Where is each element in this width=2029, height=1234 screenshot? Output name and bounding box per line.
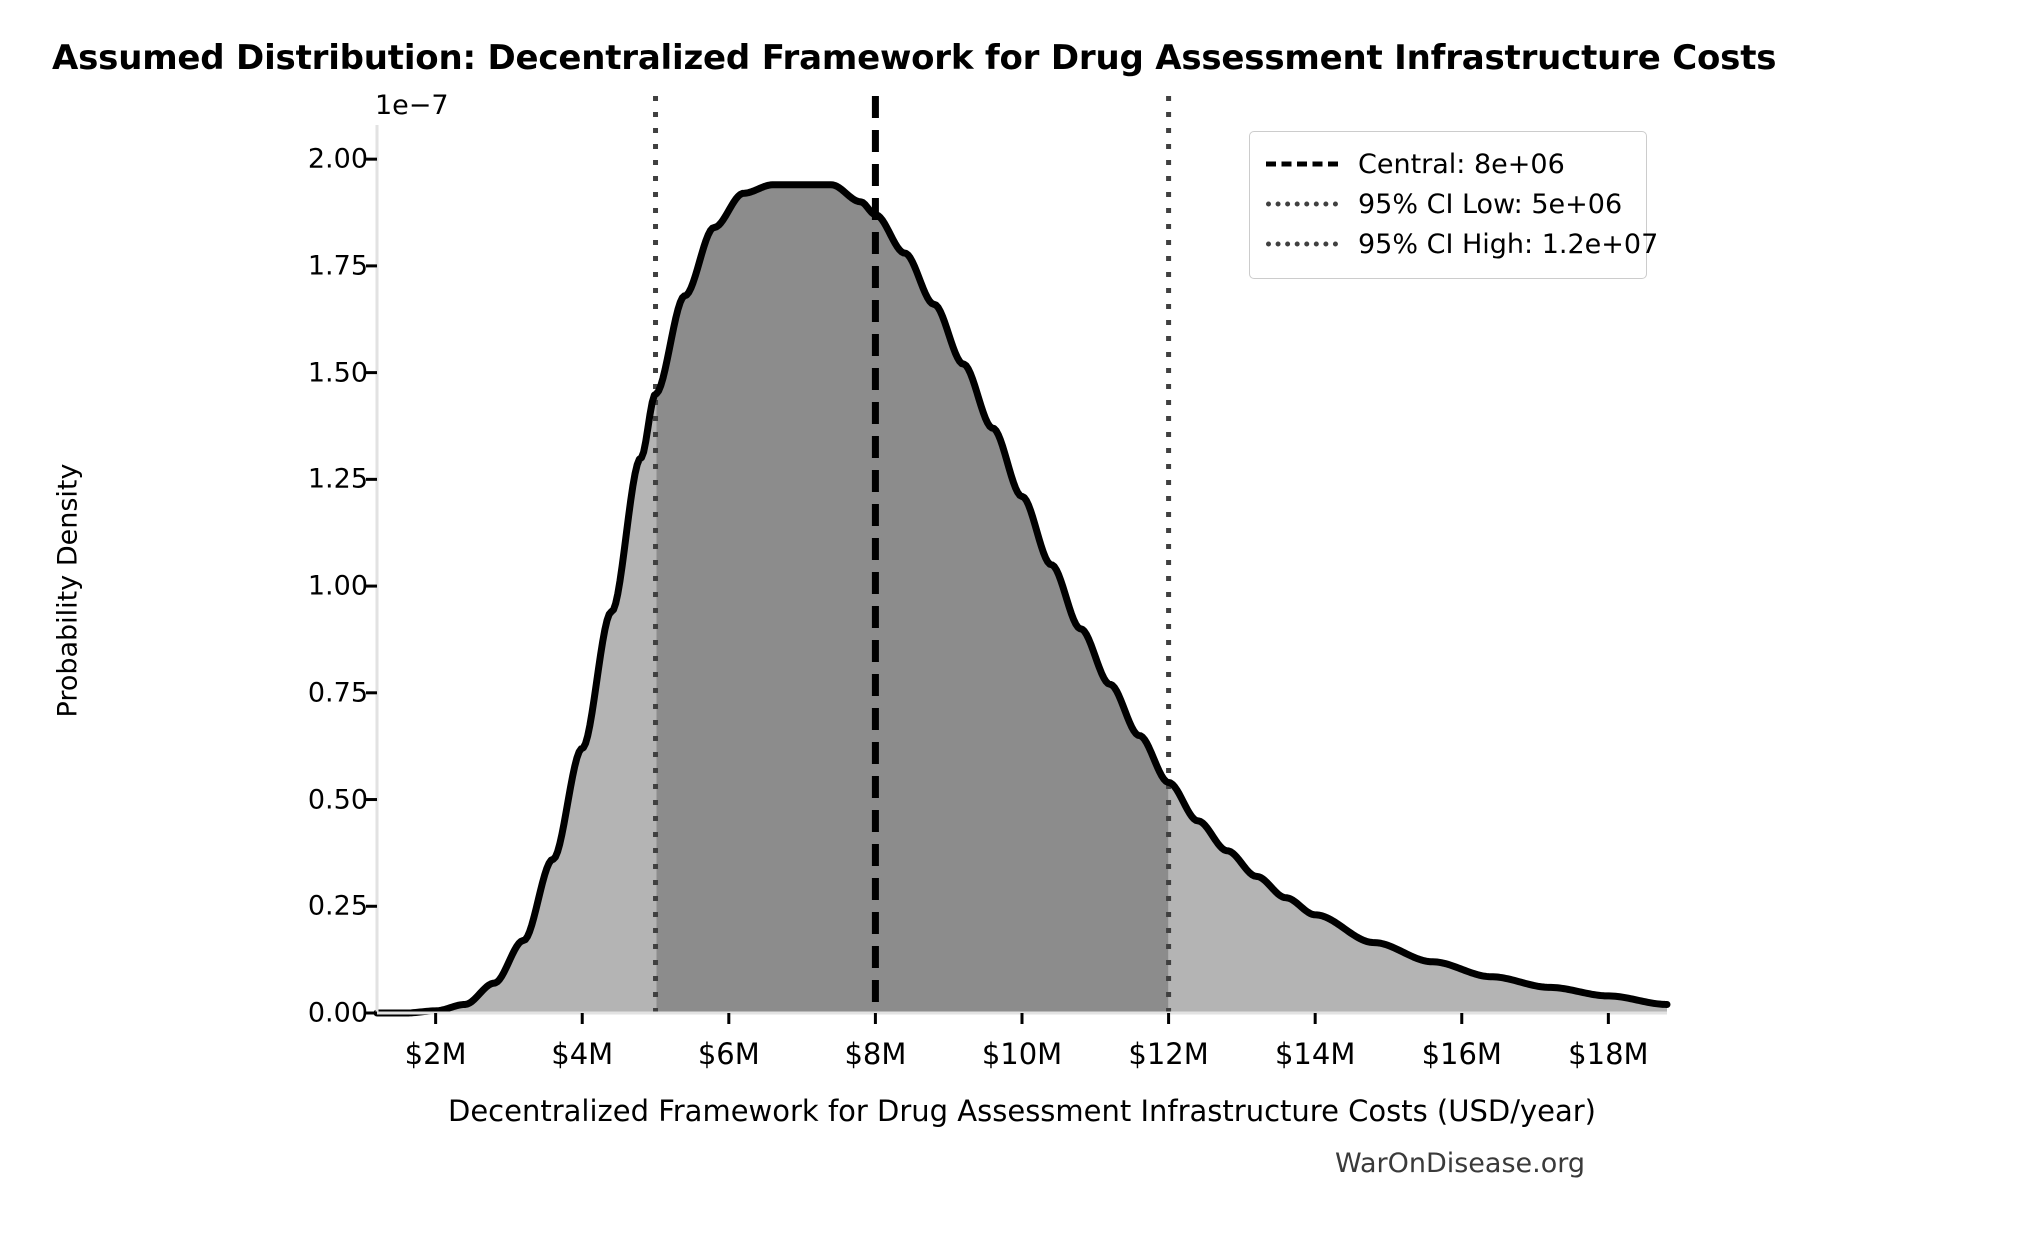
chart-figure: Assumed Distribution: Decentralized Fram… (0, 0, 2029, 1234)
x-tick-label: $6M (649, 1037, 809, 1071)
ci-range-fill (657, 185, 1169, 1013)
y-tick-label: 1.25 (228, 464, 368, 495)
legend-item-central: Central: 8e+06 (1266, 144, 1630, 184)
y-tick-label: 0.25 (228, 891, 368, 922)
legend[interactable]: Central: 8e+06 95% CI Low: 5e+06 95% CI … (1249, 131, 1647, 279)
legend-item-ci-high: 95% CI High: 1.2e+07 (1266, 224, 1630, 264)
y-tick-label: 0.75 (228, 677, 368, 708)
dotted-line-icon (1266, 193, 1338, 215)
x-tick-label: $12M (1089, 1037, 1249, 1071)
legend-label-ci-low: 95% CI Low: 5e+06 (1358, 189, 1622, 220)
x-tick-label: $10M (942, 1037, 1102, 1071)
y-tick-label: 0.50 (228, 784, 368, 815)
dotted-line-icon (1266, 233, 1338, 255)
legend-label-ci-high: 95% CI High: 1.2e+07 (1358, 229, 1658, 260)
dashed-line-icon (1266, 153, 1338, 175)
y-tick-label: 1.50 (228, 357, 368, 388)
x-tick-label: $14M (1235, 1037, 1395, 1071)
y-tick-label: 1.75 (228, 250, 368, 281)
y-tick-label: 0.00 (228, 998, 368, 1029)
x-tick-label: $4M (502, 1037, 662, 1071)
x-tick-label: $2M (356, 1037, 516, 1071)
x-tick-label: $16M (1382, 1037, 1542, 1071)
legend-item-ci-low: 95% CI Low: 5e+06 (1266, 184, 1630, 224)
x-tick-label: $18M (1528, 1037, 1688, 1071)
y-tick-label: 2.00 (228, 144, 368, 175)
x-tick-label: $8M (795, 1037, 955, 1071)
legend-label-central: Central: 8e+06 (1358, 149, 1565, 180)
y-tick-label: 1.00 (228, 571, 368, 602)
